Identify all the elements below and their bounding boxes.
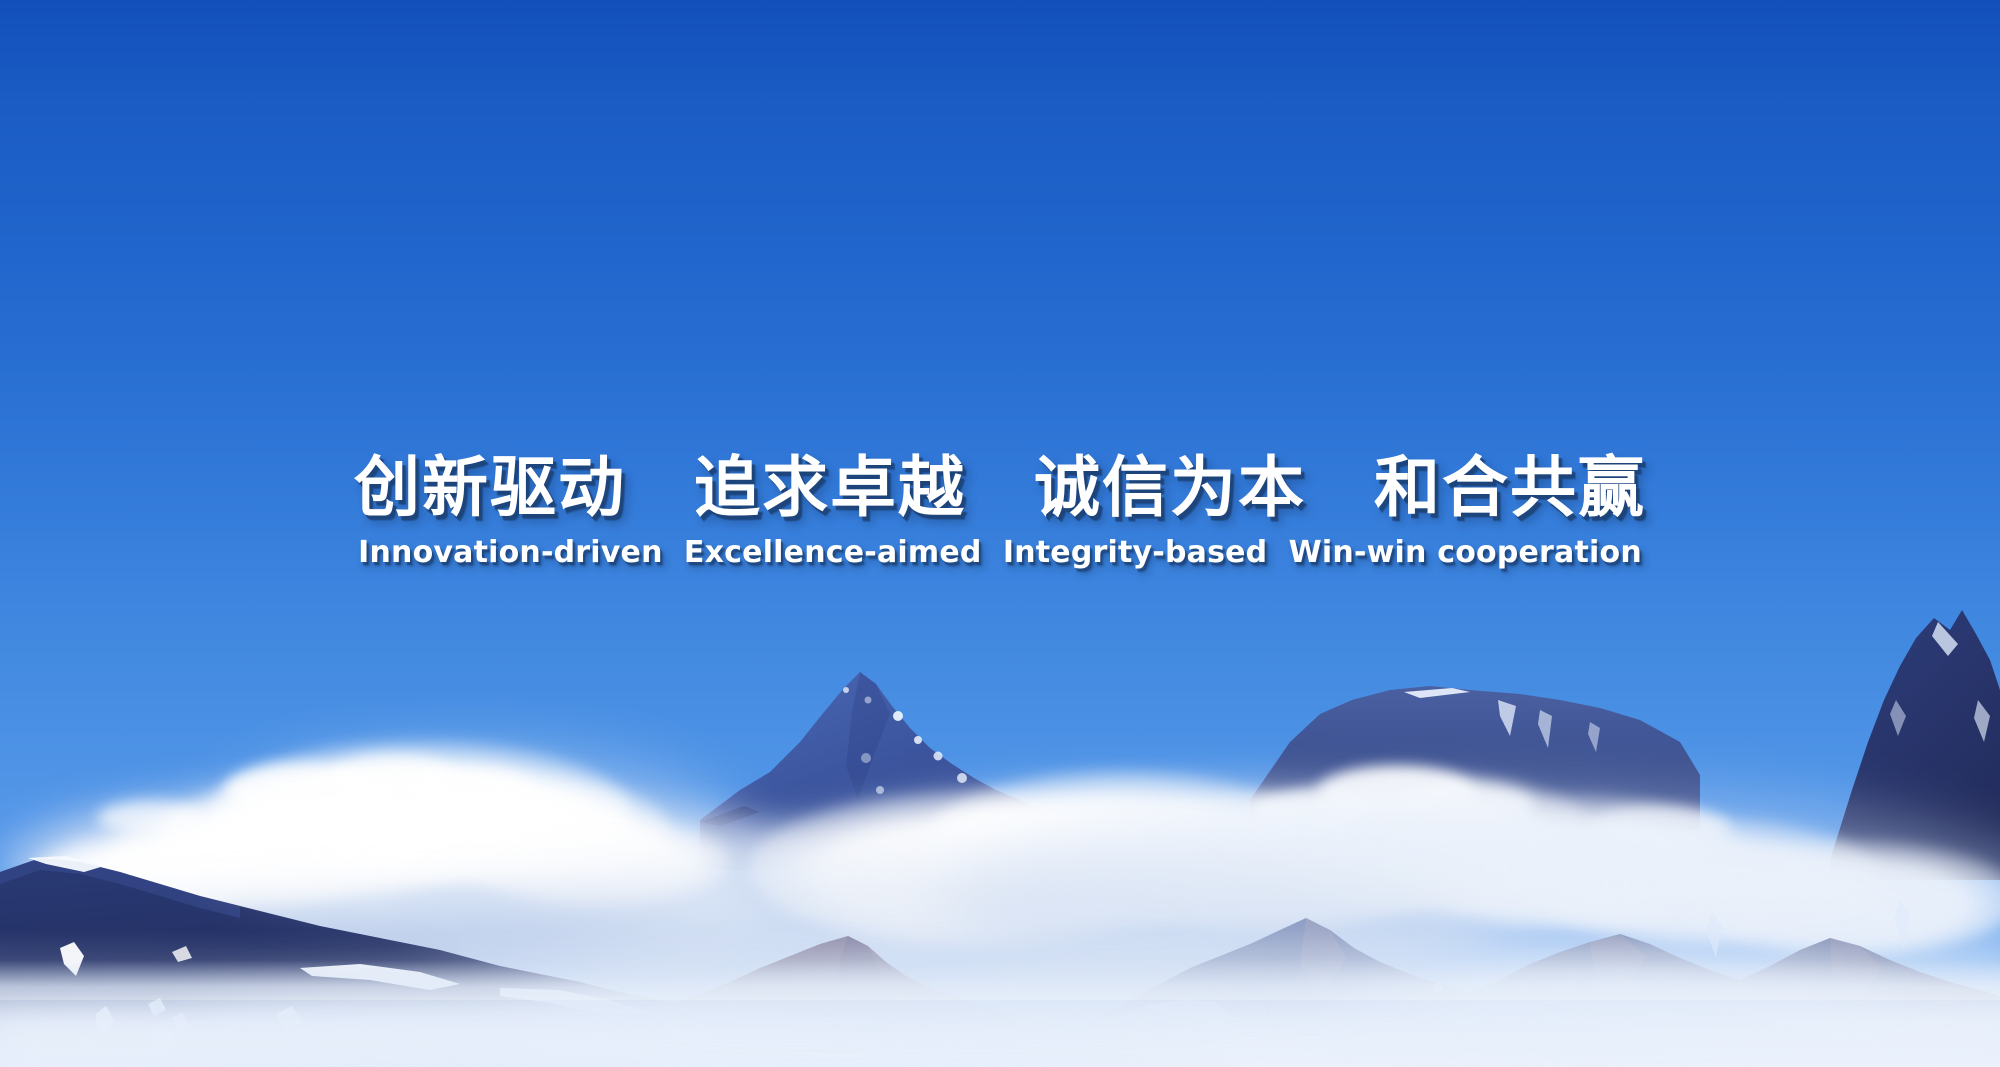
hero-banner: 创新驱动 追求卓越 诚信为本 和合共赢 Innovation-driven Ex… (0, 0, 2000, 1067)
mountain-cloud-scene (0, 0, 2000, 1067)
